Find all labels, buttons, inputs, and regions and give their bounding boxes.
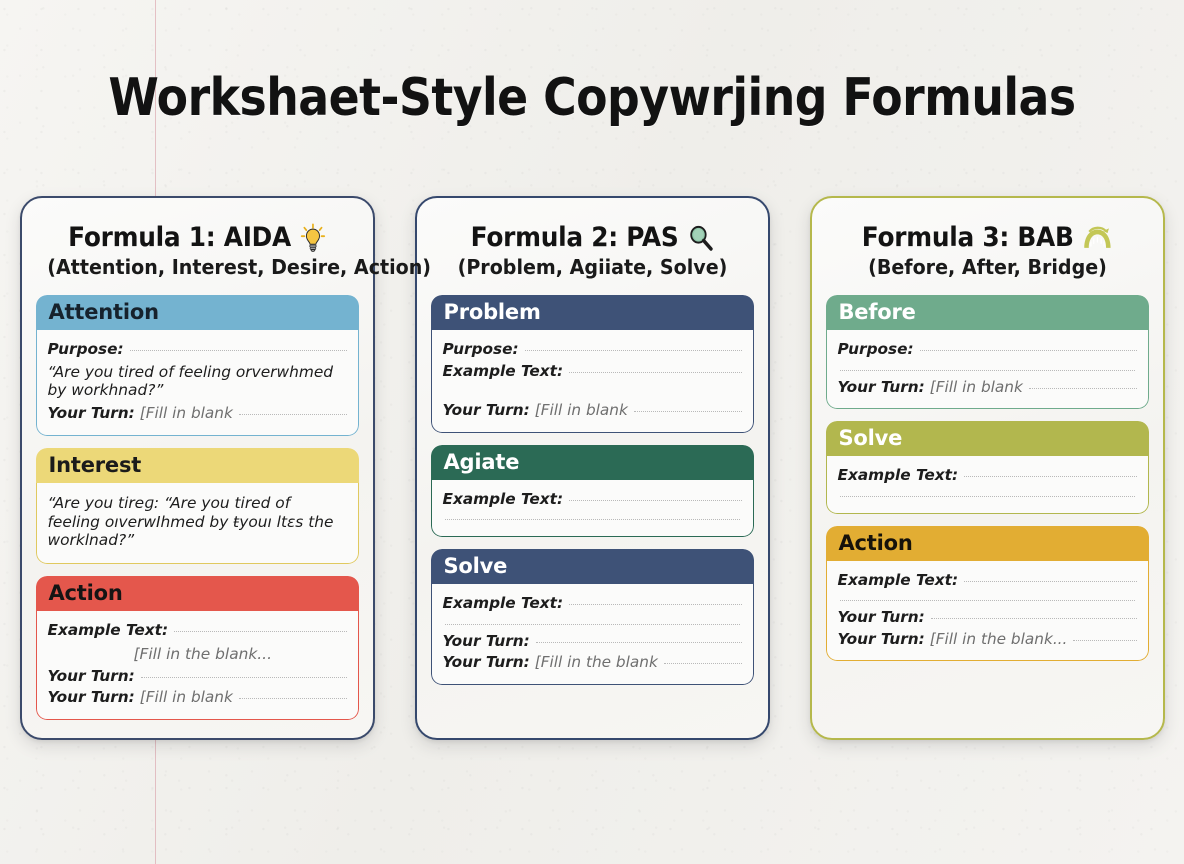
card-title: Formula 1: AIDA xyxy=(48,222,345,253)
card-header: Formula 3: BAB(Before, After, Bridge) xyxy=(826,214,1149,283)
section-header-label: Interest xyxy=(36,448,359,483)
blank-line[interactable] xyxy=(964,476,1136,477)
spacer xyxy=(443,383,742,399)
field-row: Your Turn: xyxy=(48,667,347,687)
fill-in-placeholder[interactable]: [Fill in the blank... xyxy=(134,645,347,663)
field-row: Your Turn:[Fill in blank xyxy=(443,401,742,421)
section-before: BeforePurpose:Your Turn:[Fill in blank xyxy=(826,295,1149,409)
blank-line[interactable] xyxy=(931,618,1137,619)
field-label: Your Turn: xyxy=(48,404,135,424)
field-placeholder[interactable]: [Fill in blank xyxy=(930,378,1023,398)
section-interest: Interest“Are you tireɡ: “Are you tired o… xyxy=(36,448,359,564)
section-header-label: Action xyxy=(36,576,359,611)
field-label: Your Turn: xyxy=(443,401,530,421)
field-row: Example Text: xyxy=(838,571,1137,591)
field-label: Example Text: xyxy=(443,362,564,382)
section-action: ActionExample Text:[Fill in the blank...… xyxy=(36,576,359,720)
blank-line[interactable] xyxy=(569,604,741,605)
blank-line[interactable] xyxy=(840,495,1135,497)
blank-line[interactable] xyxy=(239,698,347,699)
field-row: Your Turn:[Fill in the blank xyxy=(443,653,742,673)
blank-line[interactable] xyxy=(141,677,347,678)
card-subtitle: (Before, After, Bridge) xyxy=(837,255,1137,279)
worksheet-stage: Workshaet-Style Copywrjing Formulas Form… xyxy=(0,0,1184,864)
section-body: Example Text:[Fill in the blank...Your T… xyxy=(36,611,359,720)
section-solve: SolveExample Text:Your Turn:Your Turn:[F… xyxy=(431,549,754,685)
section-body: Example Text:Your Turn:Your Turn:[Fill i… xyxy=(431,584,754,685)
section-body: Example Text: xyxy=(431,480,754,538)
field-label: Purpose: xyxy=(838,340,914,360)
field-label: Your Turn: xyxy=(48,688,135,708)
card-header: Formula 1: AIDA(Attention, Interest, Des… xyxy=(36,214,359,283)
section-problem: ProblemPurpose:Example Text:Your Turn:[F… xyxy=(431,295,754,433)
section-header-label: Before xyxy=(826,295,1149,330)
field-row: Your Turn:[Fill in blank xyxy=(48,688,347,708)
field-row: Your Turn:[Fill in the blank... xyxy=(838,630,1137,650)
blank-line[interactable] xyxy=(840,369,1135,371)
card-title-text: Formula 3: BAB xyxy=(861,222,1073,253)
field-row: Example Text: xyxy=(443,490,742,510)
field-label: Example Text: xyxy=(838,571,959,591)
section-solve: SolveExample Text: xyxy=(826,421,1149,514)
blank-line[interactable] xyxy=(1073,640,1136,641)
field-label: Your Turn: xyxy=(838,608,925,628)
field-row: Your Turn:[Fill in blank xyxy=(48,404,347,424)
field-row: Your Turn:[Fill in blank xyxy=(838,378,1137,398)
blank-line[interactable] xyxy=(174,631,346,632)
card-title: Formula 3: BAB xyxy=(838,222,1135,253)
section-agiate: AgiateExample Text: xyxy=(431,445,754,538)
section-header-label: Problem xyxy=(431,295,754,330)
field-row: Example Text: xyxy=(443,362,742,382)
card-title-text: Formula 2: PAS xyxy=(470,222,678,253)
example-quote-text: “Are you tireɡ: “Are you tired of feelin… xyxy=(48,494,347,550)
section-action: ActionExample Text:Your Turn:Your Turn:[… xyxy=(826,526,1149,662)
card-title-text: Formula 1: AIDA xyxy=(68,222,291,253)
magnifier-icon xyxy=(686,223,714,253)
card-subtitle: (Problem, Agiiate, Solve) xyxy=(442,255,742,279)
section-header-label: Solve xyxy=(826,421,1149,456)
field-label: Purpose: xyxy=(48,340,124,360)
lightbulb-icon xyxy=(299,223,327,253)
section-header-label: Solve xyxy=(431,549,754,584)
field-label: Example Text: xyxy=(443,594,564,614)
card-subtitle: (Attention, Interest, Desire, Action) xyxy=(47,255,347,279)
blank-line[interactable] xyxy=(920,350,1137,351)
section-header-label: Attention xyxy=(36,295,359,330)
section-attention: AttentionPurpose:“Are you tired of feeli… xyxy=(36,295,359,436)
field-label: Your Turn: xyxy=(838,378,925,398)
blank-line[interactable] xyxy=(1029,388,1137,389)
field-placeholder[interactable]: [Fill in the blank... xyxy=(930,630,1068,650)
blank-line[interactable] xyxy=(130,350,347,351)
blank-line[interactable] xyxy=(840,599,1135,601)
field-row: Your Turn: xyxy=(838,608,1137,628)
field-label: Purpose: xyxy=(443,340,519,360)
blank-line[interactable] xyxy=(964,581,1136,582)
page-title: Workshaet-Style Copywrjing Formulas xyxy=(71,68,1113,128)
blank-line[interactable] xyxy=(569,372,741,373)
section-body: Example Text:Your Turn:Your Turn:[Fill i… xyxy=(826,561,1149,662)
blank-line[interactable] xyxy=(239,414,347,415)
example-quote-text: “Are you tired of feeling orverwhmed by … xyxy=(48,363,347,401)
formula-card-bab: Formula 3: BAB(Before, After, Bridge)Bef… xyxy=(810,196,1165,740)
field-label: Your Turn: xyxy=(48,667,135,687)
field-label: Example Text: xyxy=(443,490,564,510)
field-row: Purpose: xyxy=(48,340,347,360)
section-body: Example Text: xyxy=(826,456,1149,514)
field-label: Your Turn: xyxy=(443,653,530,673)
formula-cards-row: Formula 1: AIDA(Attention, Interest, Des… xyxy=(0,196,1184,740)
blank-line[interactable] xyxy=(664,663,742,664)
section-body: Purpose:Example Text:Your Turn:[Fill in … xyxy=(431,330,754,433)
field-placeholder[interactable]: [Fill in the blank xyxy=(535,653,658,673)
formula-card-aida: Formula 1: AIDA(Attention, Interest, Des… xyxy=(20,196,375,740)
blank-line[interactable] xyxy=(445,623,740,625)
field-placeholder[interactable]: [Fill in blank xyxy=(140,404,233,424)
bridge-icon xyxy=(1081,224,1112,252)
field-row: Your Turn: xyxy=(443,632,742,652)
section-body: Purpose:Your Turn:[Fill in blank xyxy=(826,330,1149,409)
field-label: Example Text: xyxy=(838,466,959,486)
blank-line[interactable] xyxy=(525,350,742,351)
field-placeholder[interactable]: [Fill in blank xyxy=(535,401,628,421)
section-body: “Are you tireɡ: “Are you tired of feelin… xyxy=(36,483,359,564)
field-row: Example Text: xyxy=(443,594,742,614)
field-label: Your Turn: xyxy=(838,630,925,650)
field-row: Purpose: xyxy=(838,340,1137,360)
blank-line[interactable] xyxy=(445,518,740,520)
section-header-label: Action xyxy=(826,526,1149,561)
blank-line[interactable] xyxy=(536,642,742,643)
card-title: Formula 2: PAS xyxy=(443,222,740,253)
field-row: Example Text: xyxy=(48,621,347,641)
field-row: Purpose: xyxy=(443,340,742,360)
blank-line[interactable] xyxy=(569,500,741,501)
blank-line[interactable] xyxy=(634,411,742,412)
field-placeholder[interactable]: [Fill in blank xyxy=(140,688,233,708)
card-header: Formula 2: PAS(Problem, Agiiate, Solve) xyxy=(431,214,754,283)
formula-card-pas: Formula 2: PAS(Problem, Agiiate, Solve)P… xyxy=(415,196,770,740)
field-label: Example Text: xyxy=(48,621,169,641)
section-header-label: Agiate xyxy=(431,445,754,480)
field-label: Your Turn: xyxy=(443,632,530,652)
section-body: Purpose:“Are you tired of feeling orverw… xyxy=(36,330,359,436)
field-row: Example Text: xyxy=(838,466,1137,486)
